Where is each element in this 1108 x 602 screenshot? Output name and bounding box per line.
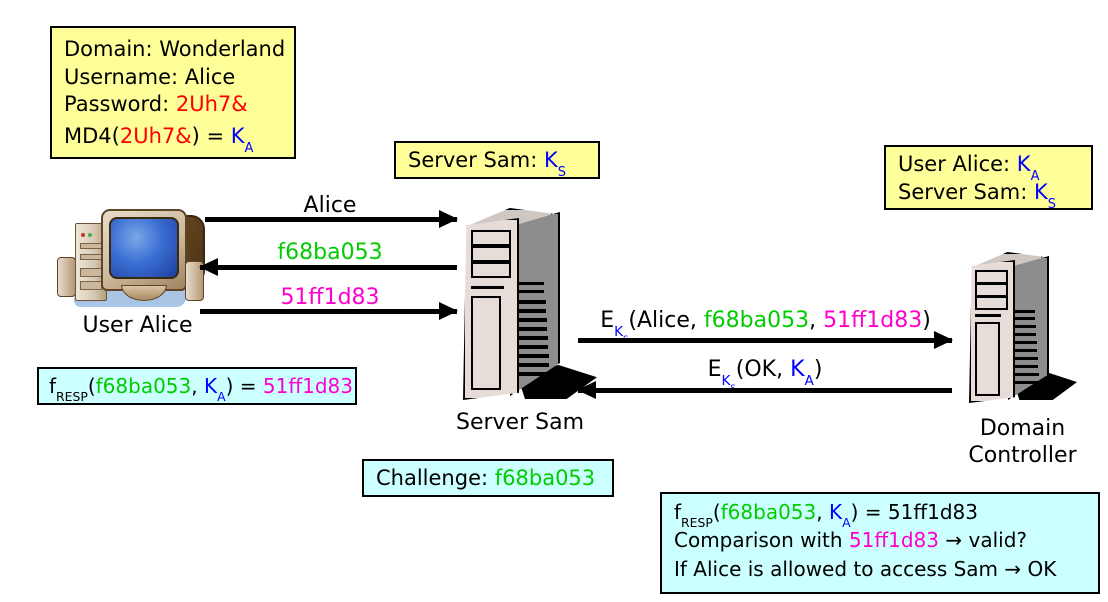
server-vent: [518, 354, 549, 358]
note-line: Server Sam: KS: [898, 179, 1079, 207]
server-vent: [1014, 333, 1036, 336]
diagram-canvas: Domain: Wonderland Username: Alice Passw…: [0, 0, 1108, 602]
response-value: 51ff1d83: [823, 308, 922, 333]
key-ka: KA: [790, 357, 814, 382]
note-line: If Alice is allowed to access Sam → OK: [674, 556, 1086, 582]
server-vent: [1014, 310, 1035, 313]
server-vent: [518, 282, 544, 285]
arrow-head-right: [439, 210, 458, 228]
enc-args-open: (Alice,: [628, 308, 703, 333]
note-line: Server Sam: KS: [408, 147, 586, 175]
server-vent: [518, 336, 548, 340]
challenge-value: f68ba053: [495, 466, 595, 490]
note-line: fRESP(f68ba053, KA) = 51ff1d83: [674, 499, 1086, 525]
note-client-credentials: Domain: Wonderland Username: Alice Passw…: [50, 26, 296, 159]
password-value: 2Uh7&: [120, 124, 192, 148]
note-line: MD4(2Uh7&) = KA: [64, 123, 282, 151]
server-vent: [1014, 325, 1036, 328]
server-vent: [1014, 341, 1037, 344]
arrow-head-left: [199, 258, 218, 276]
client-caption: User Alice: [50, 313, 225, 338]
server-drive-bay: [975, 283, 1008, 297]
arrow-head-right: [934, 331, 953, 349]
note-line: Comparison with 51ff1d83 → valid?: [674, 527, 1086, 553]
server-vent: [518, 309, 546, 313]
response-value: 51ff1d83: [263, 374, 353, 398]
key-ka: KA: [231, 124, 254, 148]
server-vent: [1014, 373, 1039, 376]
server-lower-bezel: [975, 322, 1000, 396]
msg-dc-ok-label: EKS(OK, KA): [578, 357, 952, 382]
server-drive-bay: [471, 246, 511, 262]
server-lower-bezel: [471, 296, 501, 390]
enc-E: E: [708, 357, 722, 382]
dc-caption-line1: Domain: [940, 416, 1105, 441]
note-text: Password:: [64, 92, 176, 116]
note-client-response-calc: fRESP(f68ba053, KA) = 51ff1d83: [37, 367, 357, 405]
drive-bay: [80, 281, 102, 290]
msg-username-label: Alice: [205, 193, 455, 218]
note-text: Challenge:: [376, 466, 495, 490]
drive-bay: [80, 254, 102, 260]
challenge-value: f68ba053: [96, 374, 192, 398]
activity-led-icon: [88, 233, 92, 237]
note-text: =: [858, 500, 887, 524]
server-vent: [1014, 381, 1039, 384]
arrow-shaft: [200, 309, 457, 314]
drive-bay: [80, 268, 102, 277]
server-vent: [518, 318, 547, 322]
arrow-shaft: [200, 265, 457, 270]
arrow-shaft: [578, 388, 952, 393]
key-ks: KS: [544, 148, 566, 172]
msg-forward-label: EKS(Alice, f68ba053, 51ff1d83): [578, 308, 953, 333]
enc-close: ): [922, 308, 931, 333]
note-line: Challenge: f68ba053: [376, 465, 600, 493]
desktop-computer-icon: [45, 205, 220, 315]
note-text: Server Sam:: [408, 148, 544, 172]
server-bezel-line: [471, 286, 504, 289]
enc-comma: ,: [809, 308, 823, 333]
challenge-value: f68ba053: [704, 308, 809, 333]
server-tower-icon: [963, 246, 1083, 416]
power-led-icon: [81, 233, 85, 237]
note-line: Domain: Wonderland: [64, 36, 282, 64]
note-text: Server Sam:: [898, 180, 1034, 204]
response-value: 51ff1d83: [849, 528, 939, 552]
enc-args-open: (OK,: [736, 357, 790, 382]
note-server-challenge: Challenge: f68ba053: [362, 459, 614, 497]
enc-close: ): [814, 357, 823, 382]
server-drive-bay: [975, 296, 1008, 310]
server-vent: [518, 300, 546, 304]
server-vent: [1014, 349, 1037, 352]
key-ka: KA: [829, 500, 851, 524]
server-vent: [1014, 365, 1038, 368]
server-vent: [518, 372, 550, 376]
server-vent: [1014, 357, 1038, 360]
challenge-value: f68ba053: [721, 500, 817, 524]
arrow-shaft: [205, 217, 457, 222]
enc-key-ks: KS: [721, 357, 735, 382]
server-vent: [518, 327, 547, 331]
enc-E: E: [600, 308, 614, 333]
msg-challenge-label: f68ba053: [205, 240, 455, 265]
note-text: Comparison with: [674, 528, 849, 552]
monitor-screen: [109, 217, 179, 279]
note-line: fRESP(f68ba053, KA) = 51ff1d83: [49, 373, 345, 399]
enc-key-ks: KS: [614, 308, 628, 333]
note-line: User Alice: KA: [898, 151, 1079, 179]
note-server-key: Server Sam: KS: [394, 141, 600, 179]
speaker-left: [57, 257, 76, 297]
key-ka: KA: [204, 374, 226, 398]
note-line: Password: 2Uh7&: [64, 91, 282, 119]
note-text: → valid?: [939, 528, 1027, 552]
computed-response-value: 51ff1d83: [888, 500, 978, 524]
drive-bay: [80, 243, 102, 249]
dc-caption-line2: Controller: [940, 443, 1105, 468]
arrow-head-right: [439, 302, 458, 320]
server-vent: [1014, 317, 1035, 320]
server-bezel-line: [975, 314, 1001, 317]
password-value: 2Uh7&: [176, 92, 248, 116]
server-vent: [518, 290, 544, 293]
note-dc-keys: User Alice: KA Server Sam: KS: [884, 145, 1093, 210]
server-drive-bay: [471, 262, 511, 278]
server-drive-bay: [975, 270, 1008, 284]
server-drive-bay: [471, 230, 511, 246]
arrow-shaft: [578, 338, 952, 343]
server-vent: [518, 345, 548, 349]
arrow-head-left: [577, 381, 596, 399]
server-caption: Server Sam: [430, 410, 610, 435]
msg-response-label: 51ff1d83: [205, 285, 455, 310]
key-ka: KA: [1017, 152, 1040, 176]
server-vent: [518, 363, 549, 367]
note-line: Username: Alice: [64, 64, 282, 92]
note-text: User Alice:: [898, 152, 1017, 176]
note-dc-verification: fRESP(f68ba053, KA) = 51ff1d83 Compariso…: [660, 492, 1100, 594]
